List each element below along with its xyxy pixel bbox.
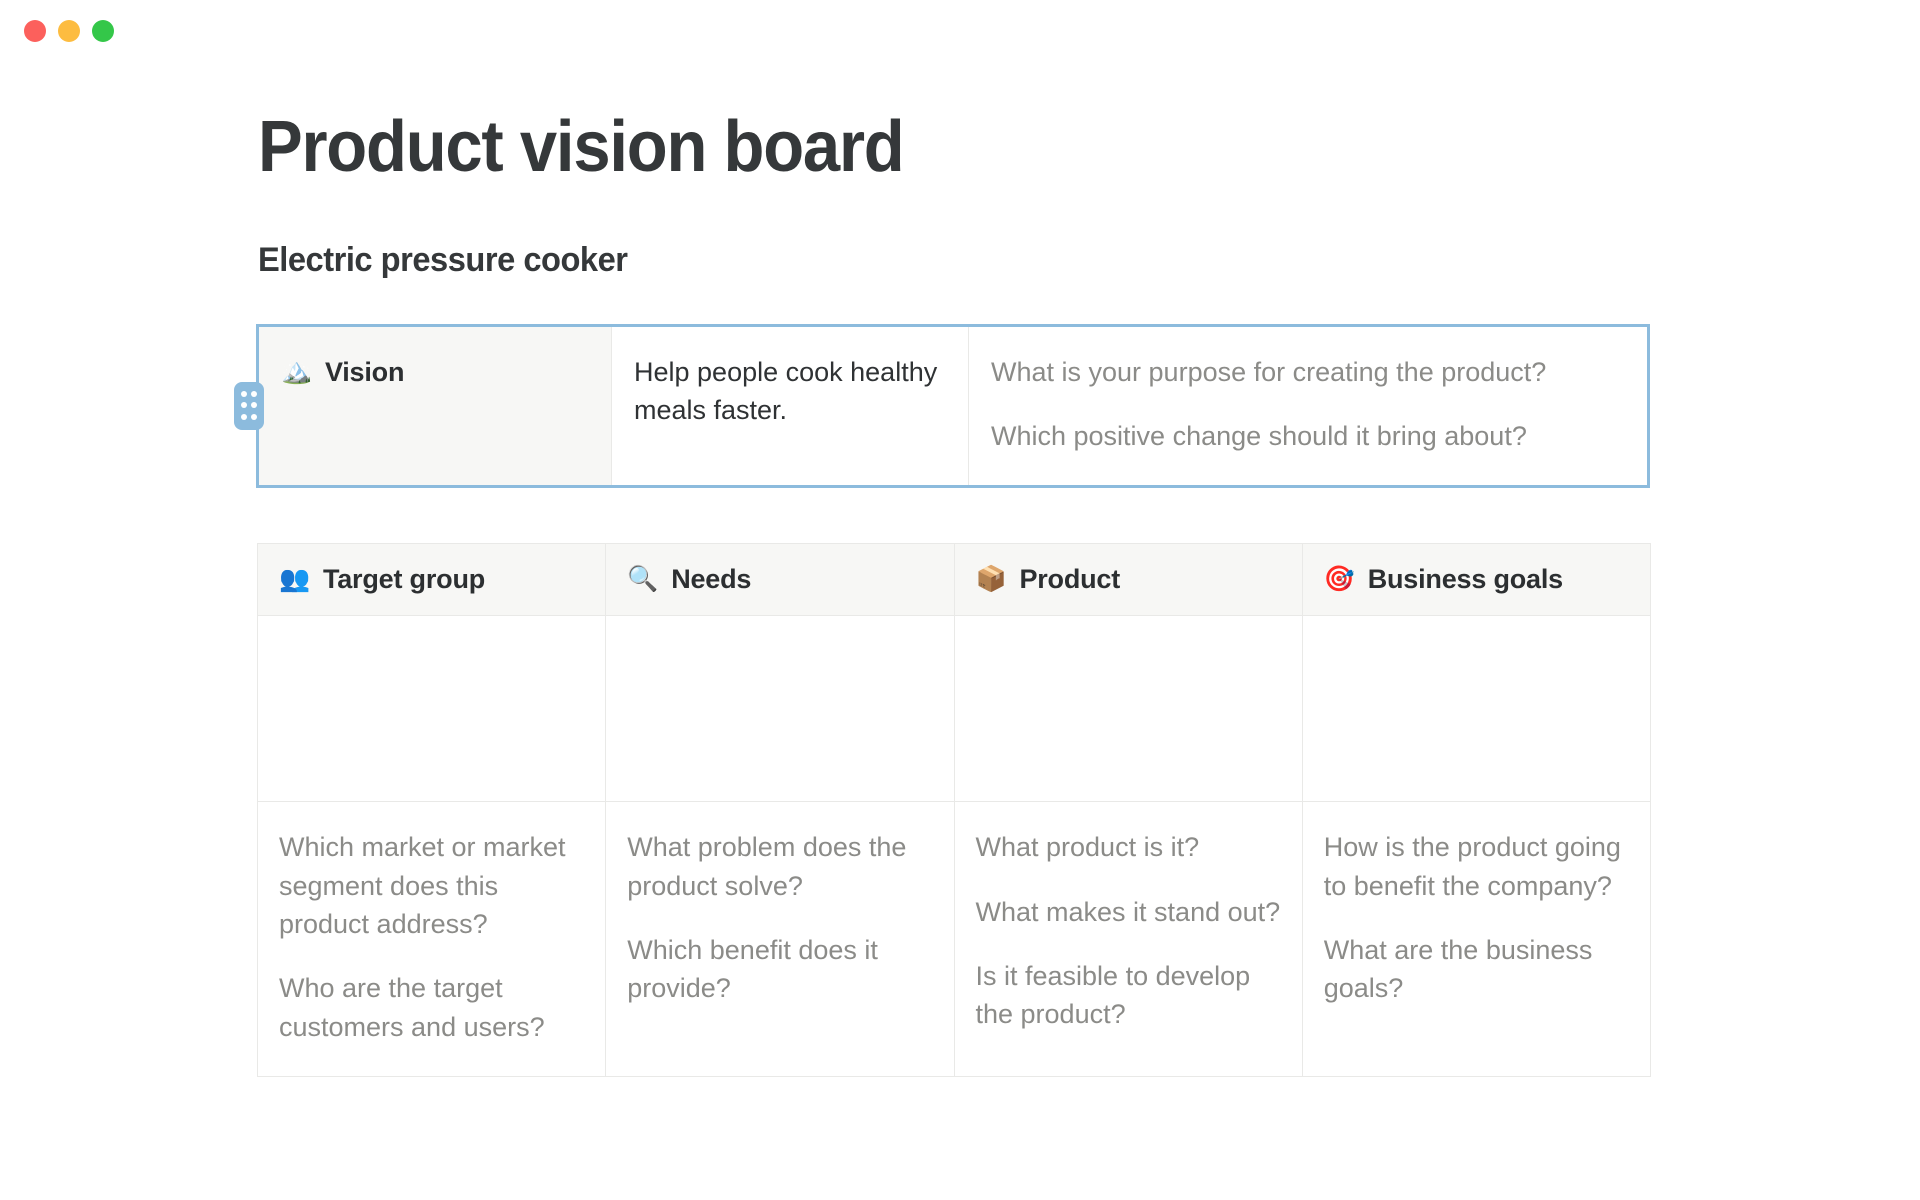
hint-line: What product is it? [976, 828, 1281, 866]
vision-label-text: Vision [325, 353, 404, 391]
drag-dot [241, 402, 247, 408]
vision-hint-cell[interactable]: What is your purpose for creating the pr… [969, 325, 1649, 487]
hint-list: What problem does the product solve? Whi… [627, 828, 932, 1007]
document-content: Product vision board Electric pressure c… [0, 62, 1920, 1077]
vision-value-text: Help people cook healthy meals faster. [634, 353, 946, 430]
drag-dot [251, 391, 257, 397]
hint-line: What problem does the product solve? [627, 828, 932, 905]
column-header-needs[interactable]: 🔍 Needs [606, 544, 954, 616]
cell-target-group-value[interactable] [258, 616, 606, 802]
app-window: Product vision board Electric pressure c… [0, 0, 1920, 1200]
hint-line: Which market or market segment does this… [279, 828, 584, 943]
column-header-business-goals[interactable]: 🎯 Business goals [1302, 544, 1650, 616]
cell-target-group-hints[interactable]: Which market or market segment does this… [258, 802, 606, 1077]
target-group-header: 👥 Target group [279, 564, 584, 595]
minimize-window-button[interactable] [58, 20, 80, 42]
hint-line: What makes it stand out? [976, 893, 1281, 931]
dart-target-icon: 🎯 [1324, 567, 1355, 592]
vision-label-cell[interactable]: 🏔️ Vision [258, 325, 612, 487]
drag-dot [241, 391, 247, 397]
hint-list: Which market or market segment does this… [279, 828, 584, 1046]
page-subtitle[interactable]: Electric pressure cooker [258, 241, 1854, 280]
column-header-label: Product [1019, 564, 1120, 595]
cell-product-hints[interactable]: What product is it? What makes it stand … [954, 802, 1302, 1077]
cell-needs-hints[interactable]: What problem does the product solve? Whi… [606, 802, 954, 1077]
cell-business-goals-value[interactable] [1302, 616, 1650, 802]
hint-line: Which benefit does it provide? [627, 931, 932, 1008]
drag-dots-icon[interactable] [234, 382, 264, 430]
page-title[interactable]: Product vision board [258, 110, 1804, 186]
column-header-product[interactable]: 📦 Product [954, 544, 1302, 616]
close-window-button[interactable] [24, 20, 46, 42]
hint-line: What are the business goals? [1324, 931, 1629, 1008]
cell-product-value[interactable] [954, 616, 1302, 802]
cell-needs-value[interactable] [606, 616, 954, 802]
hint-line: Is it feasible to develop the product? [976, 957, 1281, 1034]
needs-header: 🔍 Needs [627, 564, 932, 595]
product-vision-board-table: 👥 Target group 🔍 Needs 📦 Produc [257, 543, 1651, 1077]
busts-in-silhouette-icon: 👥 [279, 567, 310, 592]
drag-dot [241, 414, 247, 420]
magnifying-glass-icon: 🔍 [627, 567, 658, 592]
column-header-target-group[interactable]: 👥 Target group [258, 544, 606, 616]
hint-list: How is the product going to benefit the … [1324, 828, 1629, 1007]
hint-line: What is your purpose for creating the pr… [991, 353, 1625, 391]
hint-list: What product is it? What makes it stand … [976, 828, 1281, 1033]
maximize-window-button[interactable] [92, 20, 114, 42]
column-header-label: Needs [671, 564, 751, 595]
drag-dot [251, 402, 257, 408]
table-header-row: 👥 Target group 🔍 Needs 📦 Produc [258, 544, 1651, 616]
package-icon: 📦 [976, 567, 1007, 592]
vision-block[interactable]: 🏔️ Vision Help people cook healthy meals… [256, 324, 1650, 489]
mountain-icon: 🏔️ [281, 359, 312, 384]
window-titlebar [0, 0, 1920, 62]
vision-row-label: 🏔️ Vision [281, 353, 589, 391]
hint-line: Which positive change should it bring ab… [991, 417, 1625, 455]
table-row[interactable]: Which market or market segment does this… [258, 802, 1651, 1077]
vision-value-cell[interactable]: Help people cook healthy meals faster. [612, 325, 969, 487]
drag-dot [251, 414, 257, 420]
table-row[interactable] [258, 616, 1651, 802]
hint-line: How is the product going to benefit the … [1324, 828, 1629, 905]
business-goals-header: 🎯 Business goals [1324, 564, 1629, 595]
cell-business-goals-hints[interactable]: How is the product going to benefit the … [1302, 802, 1650, 1077]
column-header-label: Business goals [1368, 564, 1563, 595]
hint-line: Who are the target customers and users? [279, 969, 584, 1046]
table-row[interactable]: 🏔️ Vision Help people cook healthy meals… [258, 325, 1649, 487]
vision-hint-list: What is your purpose for creating the pr… [991, 353, 1625, 456]
product-header: 📦 Product [976, 564, 1281, 595]
vision-table: 🏔️ Vision Help people cook healthy meals… [256, 324, 1650, 489]
column-header-label: Target group [323, 564, 485, 595]
